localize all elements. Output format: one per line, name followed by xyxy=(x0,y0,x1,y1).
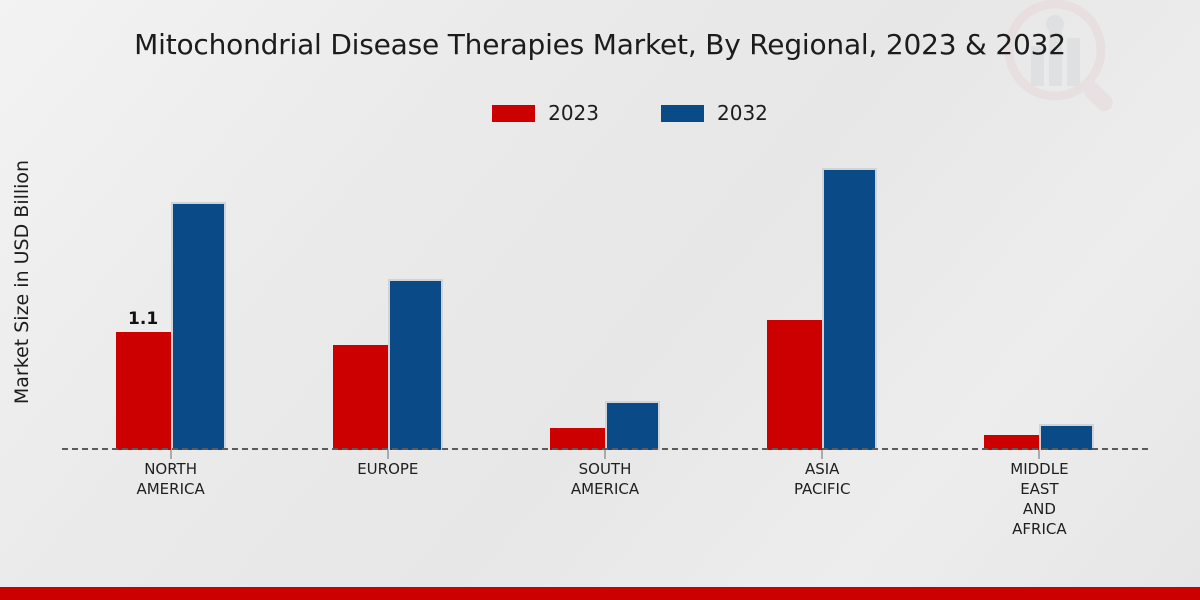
x-axis-tick xyxy=(387,450,388,459)
bar-2032[interactable] xyxy=(605,401,660,450)
bar-2032[interactable] xyxy=(171,202,226,450)
plot-area: 1.1NORTHAMERICAEUROPESOUTHAMERICAASIAPAC… xyxy=(62,140,1148,450)
y-axis-title: Market Size in USD Billion xyxy=(4,112,40,452)
chart-legend: 2023 2032 xyxy=(0,101,1200,125)
bottom-accent-band xyxy=(0,587,1200,600)
bar-group: 1.1NORTHAMERICA xyxy=(62,140,279,450)
bar-group: ASIAPACIFIC xyxy=(714,140,931,450)
x-axis-tick xyxy=(1039,450,1040,459)
bar-2032[interactable] xyxy=(388,279,443,450)
bar-2023[interactable] xyxy=(550,428,605,450)
legend-swatch-2032 xyxy=(661,105,704,122)
bar-group: EUROPE xyxy=(279,140,496,450)
y-axis-title-text: Market Size in USD Billion xyxy=(11,160,33,404)
legend-item-2023[interactable]: 2023 xyxy=(492,101,599,125)
x-axis-tick xyxy=(822,450,823,459)
legend-item-2032[interactable]: 2032 xyxy=(661,101,768,125)
bar-group: MIDDLEEASTANDAFRICA xyxy=(931,140,1148,450)
chart-figure: Mitochondrial Disease Therapies Market, … xyxy=(0,0,1200,600)
bar-group: SOUTHAMERICA xyxy=(496,140,713,450)
chart-title: Mitochondrial Disease Therapies Market, … xyxy=(0,28,1200,61)
bar-2023[interactable]: 1.1 xyxy=(116,332,171,450)
bar-2032[interactable] xyxy=(822,168,877,450)
bar-groups: 1.1NORTHAMERICAEUROPESOUTHAMERICAASIAPAC… xyxy=(62,140,1148,450)
bar-2023[interactable] xyxy=(767,320,822,450)
legend-label-2023: 2023 xyxy=(548,101,599,125)
bar-2023[interactable] xyxy=(333,345,388,450)
x-axis-baseline xyxy=(62,448,1148,450)
legend-swatch-2023 xyxy=(492,105,535,122)
x-axis-category-label: MIDDLEEASTANDAFRICA xyxy=(891,460,1188,540)
bar-2032[interactable] xyxy=(1039,424,1094,450)
x-axis-tick xyxy=(605,450,606,459)
bar-value-label: 1.1 xyxy=(116,309,171,332)
legend-label-2032: 2032 xyxy=(717,101,768,125)
x-axis-tick xyxy=(170,450,171,459)
